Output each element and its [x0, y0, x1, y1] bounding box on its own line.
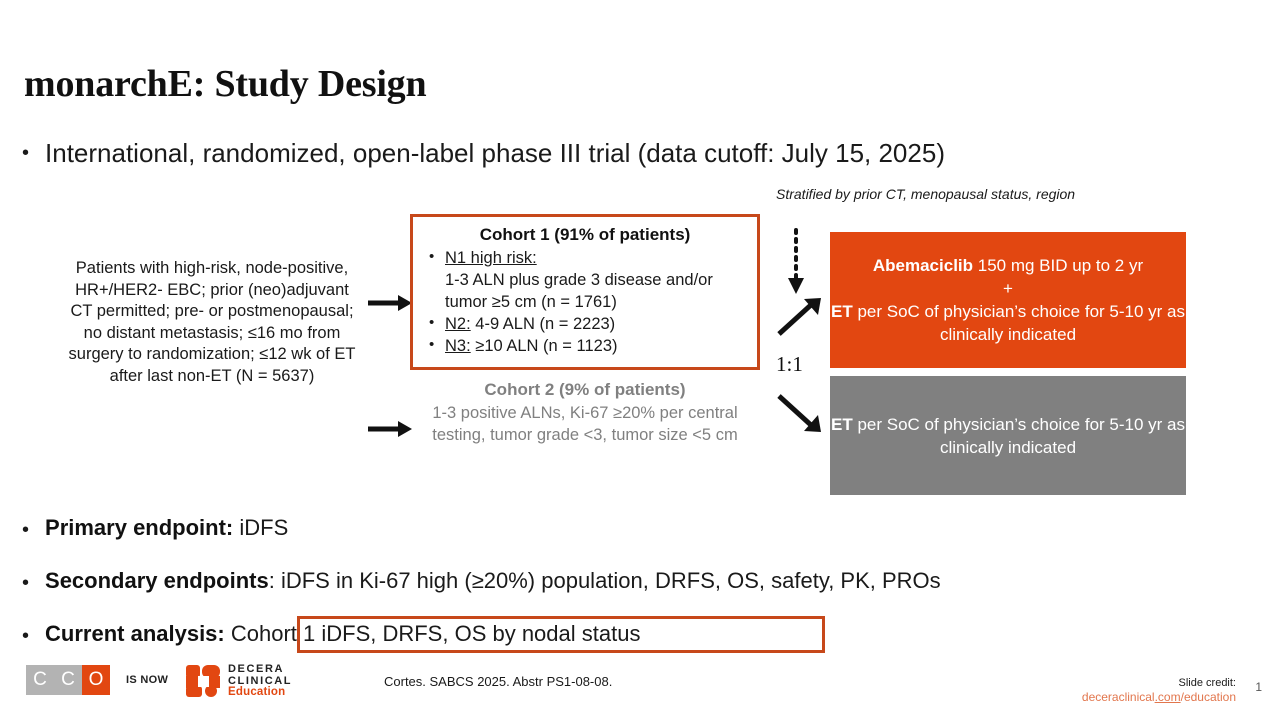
is-now-label: IS NOW: [126, 674, 168, 686]
endpoint-primary-text: Primary endpoint: iDFS: [45, 513, 288, 543]
cohort1-item-n3-label: N3:: [445, 337, 471, 355]
slide-credit: Slide credit: deceraclinical.com/educati…: [1082, 677, 1236, 705]
cohort1-box: Cohort 1 (91% of patients) N1 high risk:…: [410, 214, 760, 370]
arrow-to-cohort2-icon: [366, 418, 414, 440]
endpoint-current-analysis-label: Current analysis:: [45, 621, 225, 646]
study-design-diagram: Patients with high-risk, node-positive, …: [0, 0, 1280, 720]
page-number: 1: [1255, 680, 1262, 694]
cohort1-item-n1-text: 1-3 ALN plus grade 3 disease and/or tumo…: [445, 271, 713, 311]
slide-credit-link-prefix: deceraclinical: [1082, 690, 1155, 704]
arrow-to-cohort1-icon: [366, 292, 414, 314]
treatment-arm-et: ET per SoC of physician’s choice for 5-1…: [830, 376, 1186, 495]
cohort1-criteria-list: N1 high risk: 1-3 ALN plus grade 3 disea…: [423, 247, 747, 357]
cohort1-item-n1-label: N1 high risk:: [445, 249, 537, 267]
cco-logo-letter-1: C: [26, 665, 54, 695]
cohort2-text: 1-3 positive ALNs, Ki-67 ≥20% per centra…: [410, 402, 760, 446]
arrow-to-et-arm-icon: [776, 392, 824, 434]
cohort1-item-n2-label: N2:: [445, 315, 471, 333]
randomization-dotted-arrow-icon: [784, 228, 808, 296]
endpoint-secondary: • Secondary endpoints: iDFS in Ki-67 hig…: [22, 566, 941, 600]
cohort1-item-n3: N3: ≥10 ALN (n = 1123): [423, 335, 747, 357]
cohort1-title: Cohort 1 (91% of patients): [423, 223, 747, 247]
et-arm-text: per SoC of physician’s choice for 5-10 y…: [853, 415, 1185, 457]
slide-credit-link-suffix: /education: [1181, 690, 1236, 704]
treatment-arm-et-text: ET per SoC of physician’s choice for 5-1…: [830, 413, 1186, 459]
treatment-arm-abemaciclib: Abemaciclib 150 mg BID up to 2 yr + ET p…: [830, 232, 1186, 368]
endpoint-primary: • Primary endpoint: iDFS: [22, 513, 288, 547]
abemaciclib-et-label: ET: [831, 302, 853, 321]
cco-logo: C C O: [26, 665, 110, 695]
cohort2-box: Cohort 2 (9% of patients) 1-3 positive A…: [410, 378, 760, 446]
endpoint-secondary-text: Secondary endpoints: iDFS in Ki-67 high …: [45, 566, 941, 596]
cco-logo-letter-2: C: [54, 665, 82, 695]
cohort1-item-n3-text: ≥10 ALN (n = 1123): [475, 337, 617, 355]
endpoint-secondary-value: : iDFS in Ki-67 high (≥20%) population, …: [269, 568, 941, 593]
randomization-ratio-label: 1:1: [776, 352, 803, 377]
cohort1-item-n2: N2: 4-9 ALN (n = 2223): [423, 313, 747, 335]
decera-logo-text: DECERA CLINICAL Education: [228, 664, 292, 699]
decera-logo-education: Education: [228, 687, 292, 699]
patient-population-text: Patients with high-risk, node-positive, …: [62, 258, 362, 387]
abemaciclib-plus-sign: +: [1003, 279, 1013, 298]
abemaciclib-dose-text: 150 mg BID up to 2 yr: [973, 256, 1143, 275]
et-arm-label: ET: [831, 415, 853, 434]
treatment-arm-abemaciclib-text: Abemaciclib 150 mg BID up to 2 yr + ET p…: [830, 254, 1186, 346]
stratification-note-text: Stratified by prior CT, menopausal statu…: [776, 186, 1075, 202]
citation-text: Cortes. SABCS 2025. Abstr PS1-08-08.: [384, 674, 612, 689]
cohort1-item-n1: N1 high risk: 1-3 ALN plus grade 3 disea…: [423, 247, 747, 313]
bullet-dot-icon: •: [22, 513, 29, 547]
abemaciclib-et-text: per SoC of physician’s choice for 5-10 y…: [853, 302, 1185, 344]
slide-credit-link-dotcom: .com: [1155, 690, 1181, 704]
endpoint-primary-value: iDFS: [233, 515, 288, 540]
stratification-note: Stratified by prior CT, menopausal statu…: [776, 186, 1075, 203]
cohort2-title: Cohort 2 (9% of patients): [410, 378, 760, 402]
cco-logo-letter-3: O: [82, 665, 110, 695]
decera-logo-mark-icon: [186, 665, 220, 697]
bullet-dot-icon: •: [22, 566, 29, 600]
abemaciclib-drug-label: Abemaciclib: [873, 256, 973, 275]
decera-logo-line-1: DECERA: [228, 664, 292, 676]
arrow-to-abemaciclib-arm-icon: [776, 296, 824, 338]
slide-credit-label: Slide credit:: [1082, 677, 1236, 690]
slide-credit-link[interactable]: deceraclinical.com/education: [1082, 690, 1236, 705]
endpoint-primary-label: Primary endpoint:: [45, 515, 233, 540]
endpoint-secondary-label: Secondary endpoints: [45, 568, 269, 593]
cohort1-item-n2-text: 4-9 ALN (n = 2223): [475, 315, 615, 333]
current-analysis-highlight-box: [297, 616, 825, 653]
bullet-dot-icon: •: [22, 619, 29, 653]
